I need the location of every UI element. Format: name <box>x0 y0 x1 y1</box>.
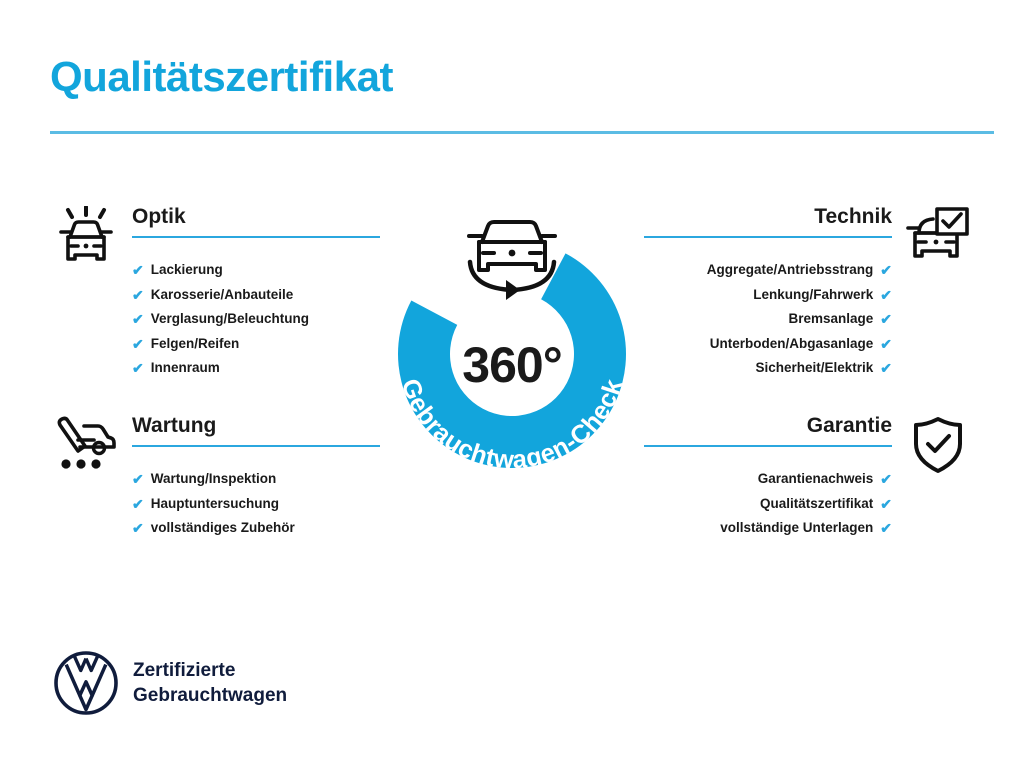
car-shine-icon <box>50 205 122 267</box>
list-item-label: Felgen/Reifen <box>151 332 240 357</box>
section-garantie-heading: Garantie <box>644 414 892 445</box>
section-wartung-underline <box>132 445 380 447</box>
section-optik-body: Optik ✔Lackierung ✔Karosserie/Anbauteile… <box>132 205 380 381</box>
list-item-label: Garantienachweis <box>758 467 874 492</box>
quality-certificate-page: Qualitätszertifikat <box>0 0 1024 768</box>
list-item: ✔Innenraum <box>132 356 380 381</box>
check-icon: ✔ <box>132 263 144 277</box>
badge-360-label: 360° <box>366 336 658 394</box>
section-optik-underline <box>132 236 380 238</box>
list-item-label: Unterboden/Abgasanlage <box>710 332 874 357</box>
list-item-label: vollständiges Zubehör <box>151 516 295 541</box>
list-item-label: Hauptuntersuchung <box>151 492 279 517</box>
360-check-badge: Gebrauchtwagen-Check 360° <box>366 196 658 496</box>
section-garantie-list: Garantienachweis✔ Qualitätszertifikat✔ v… <box>644 467 892 541</box>
footer-line-2: Gebrauchtwagen <box>133 683 287 708</box>
section-optik-heading: Optik <box>132 205 380 236</box>
car-checkbox-icon <box>902 205 974 267</box>
section-garantie-body: Garantie Garantienachweis✔ Qualitätszert… <box>644 414 892 541</box>
section-garantie-underline <box>644 445 892 447</box>
check-icon: ✔ <box>880 312 892 326</box>
check-icon: ✔ <box>880 361 892 375</box>
list-item-label: Karosserie/Anbauteile <box>151 283 294 308</box>
check-icon: ✔ <box>880 337 892 351</box>
list-item: ✔Verglasung/Beleuchtung <box>132 307 380 332</box>
wrench-car-icon <box>50 414 122 476</box>
check-icon: ✔ <box>132 497 144 511</box>
list-item-label: Qualitätszertifikat <box>760 492 873 517</box>
list-item-label: Sicherheit/Elektrik <box>755 356 873 381</box>
check-icon: ✔ <box>132 521 144 535</box>
check-icon: ✔ <box>880 472 892 486</box>
footer-line-1: Zertifizierte <box>133 658 287 683</box>
check-icon: ✔ <box>132 472 144 486</box>
list-item: Qualitätszertifikat✔ <box>644 492 892 517</box>
list-item-label: Innenraum <box>151 356 220 381</box>
section-optik-list: ✔Lackierung ✔Karosserie/Anbauteile ✔Verg… <box>132 258 380 381</box>
check-icon: ✔ <box>880 497 892 511</box>
check-icon: ✔ <box>132 361 144 375</box>
list-item-label: Lenkung/Fahrwerk <box>753 283 873 308</box>
section-technik-heading: Technik <box>644 205 892 236</box>
check-icon: ✔ <box>132 312 144 326</box>
check-icon: ✔ <box>880 288 892 302</box>
list-item-label: Wartung/Inspektion <box>151 467 277 492</box>
section-wartung-heading: Wartung <box>132 414 380 445</box>
list-item: ✔Lackierung <box>132 258 380 283</box>
list-item: Unterboden/Abgasanlage✔ <box>644 332 892 357</box>
footer-brand: Zertifizierte Gebrauchtwagen <box>53 650 287 716</box>
section-wartung-list: ✔Wartung/Inspektion ✔Hauptuntersuchung ✔… <box>132 467 380 541</box>
list-item: Sicherheit/Elektrik✔ <box>644 356 892 381</box>
page-title: Qualitätszertifikat <box>50 54 393 100</box>
list-item-label: Verglasung/Beleuchtung <box>151 307 309 332</box>
check-icon: ✔ <box>132 337 144 351</box>
list-item: Lenkung/Fahrwerk✔ <box>644 283 892 308</box>
list-item: vollständige Unterlagen✔ <box>644 516 892 541</box>
section-technik-underline <box>644 236 892 238</box>
section-technik-list: Aggregate/Antriebsstrang✔ Lenkung/Fahrwe… <box>644 258 892 381</box>
list-item: ✔Hauptuntersuchung <box>132 492 380 517</box>
list-item: ✔Karosserie/Anbauteile <box>132 283 380 308</box>
list-item: ✔Wartung/Inspektion <box>132 467 380 492</box>
vw-logo-icon <box>53 650 119 716</box>
list-item: ✔Felgen/Reifen <box>132 332 380 357</box>
footer-brand-text: Zertifizierte Gebrauchtwagen <box>133 658 287 708</box>
shield-check-icon <box>902 414 974 476</box>
list-item-label: Lackierung <box>151 258 223 283</box>
check-icon: ✔ <box>880 263 892 277</box>
list-item-label: Bremsanlage <box>788 307 873 332</box>
list-item-label: Aggregate/Antriebsstrang <box>707 258 874 283</box>
list-item: ✔vollständiges Zubehör <box>132 516 380 541</box>
header-divider <box>50 131 994 134</box>
list-item: Aggregate/Antriebsstrang✔ <box>644 258 892 283</box>
list-item-label: vollständige Unterlagen <box>720 516 873 541</box>
list-item: Bremsanlage✔ <box>644 307 892 332</box>
check-icon: ✔ <box>880 521 892 535</box>
section-wartung-body: Wartung ✔Wartung/Inspektion ✔Hauptunters… <box>132 414 380 541</box>
section-technik-body: Technik Aggregate/Antriebsstrang✔ Lenkun… <box>644 205 892 381</box>
list-item: Garantienachweis✔ <box>644 467 892 492</box>
check-icon: ✔ <box>132 288 144 302</box>
